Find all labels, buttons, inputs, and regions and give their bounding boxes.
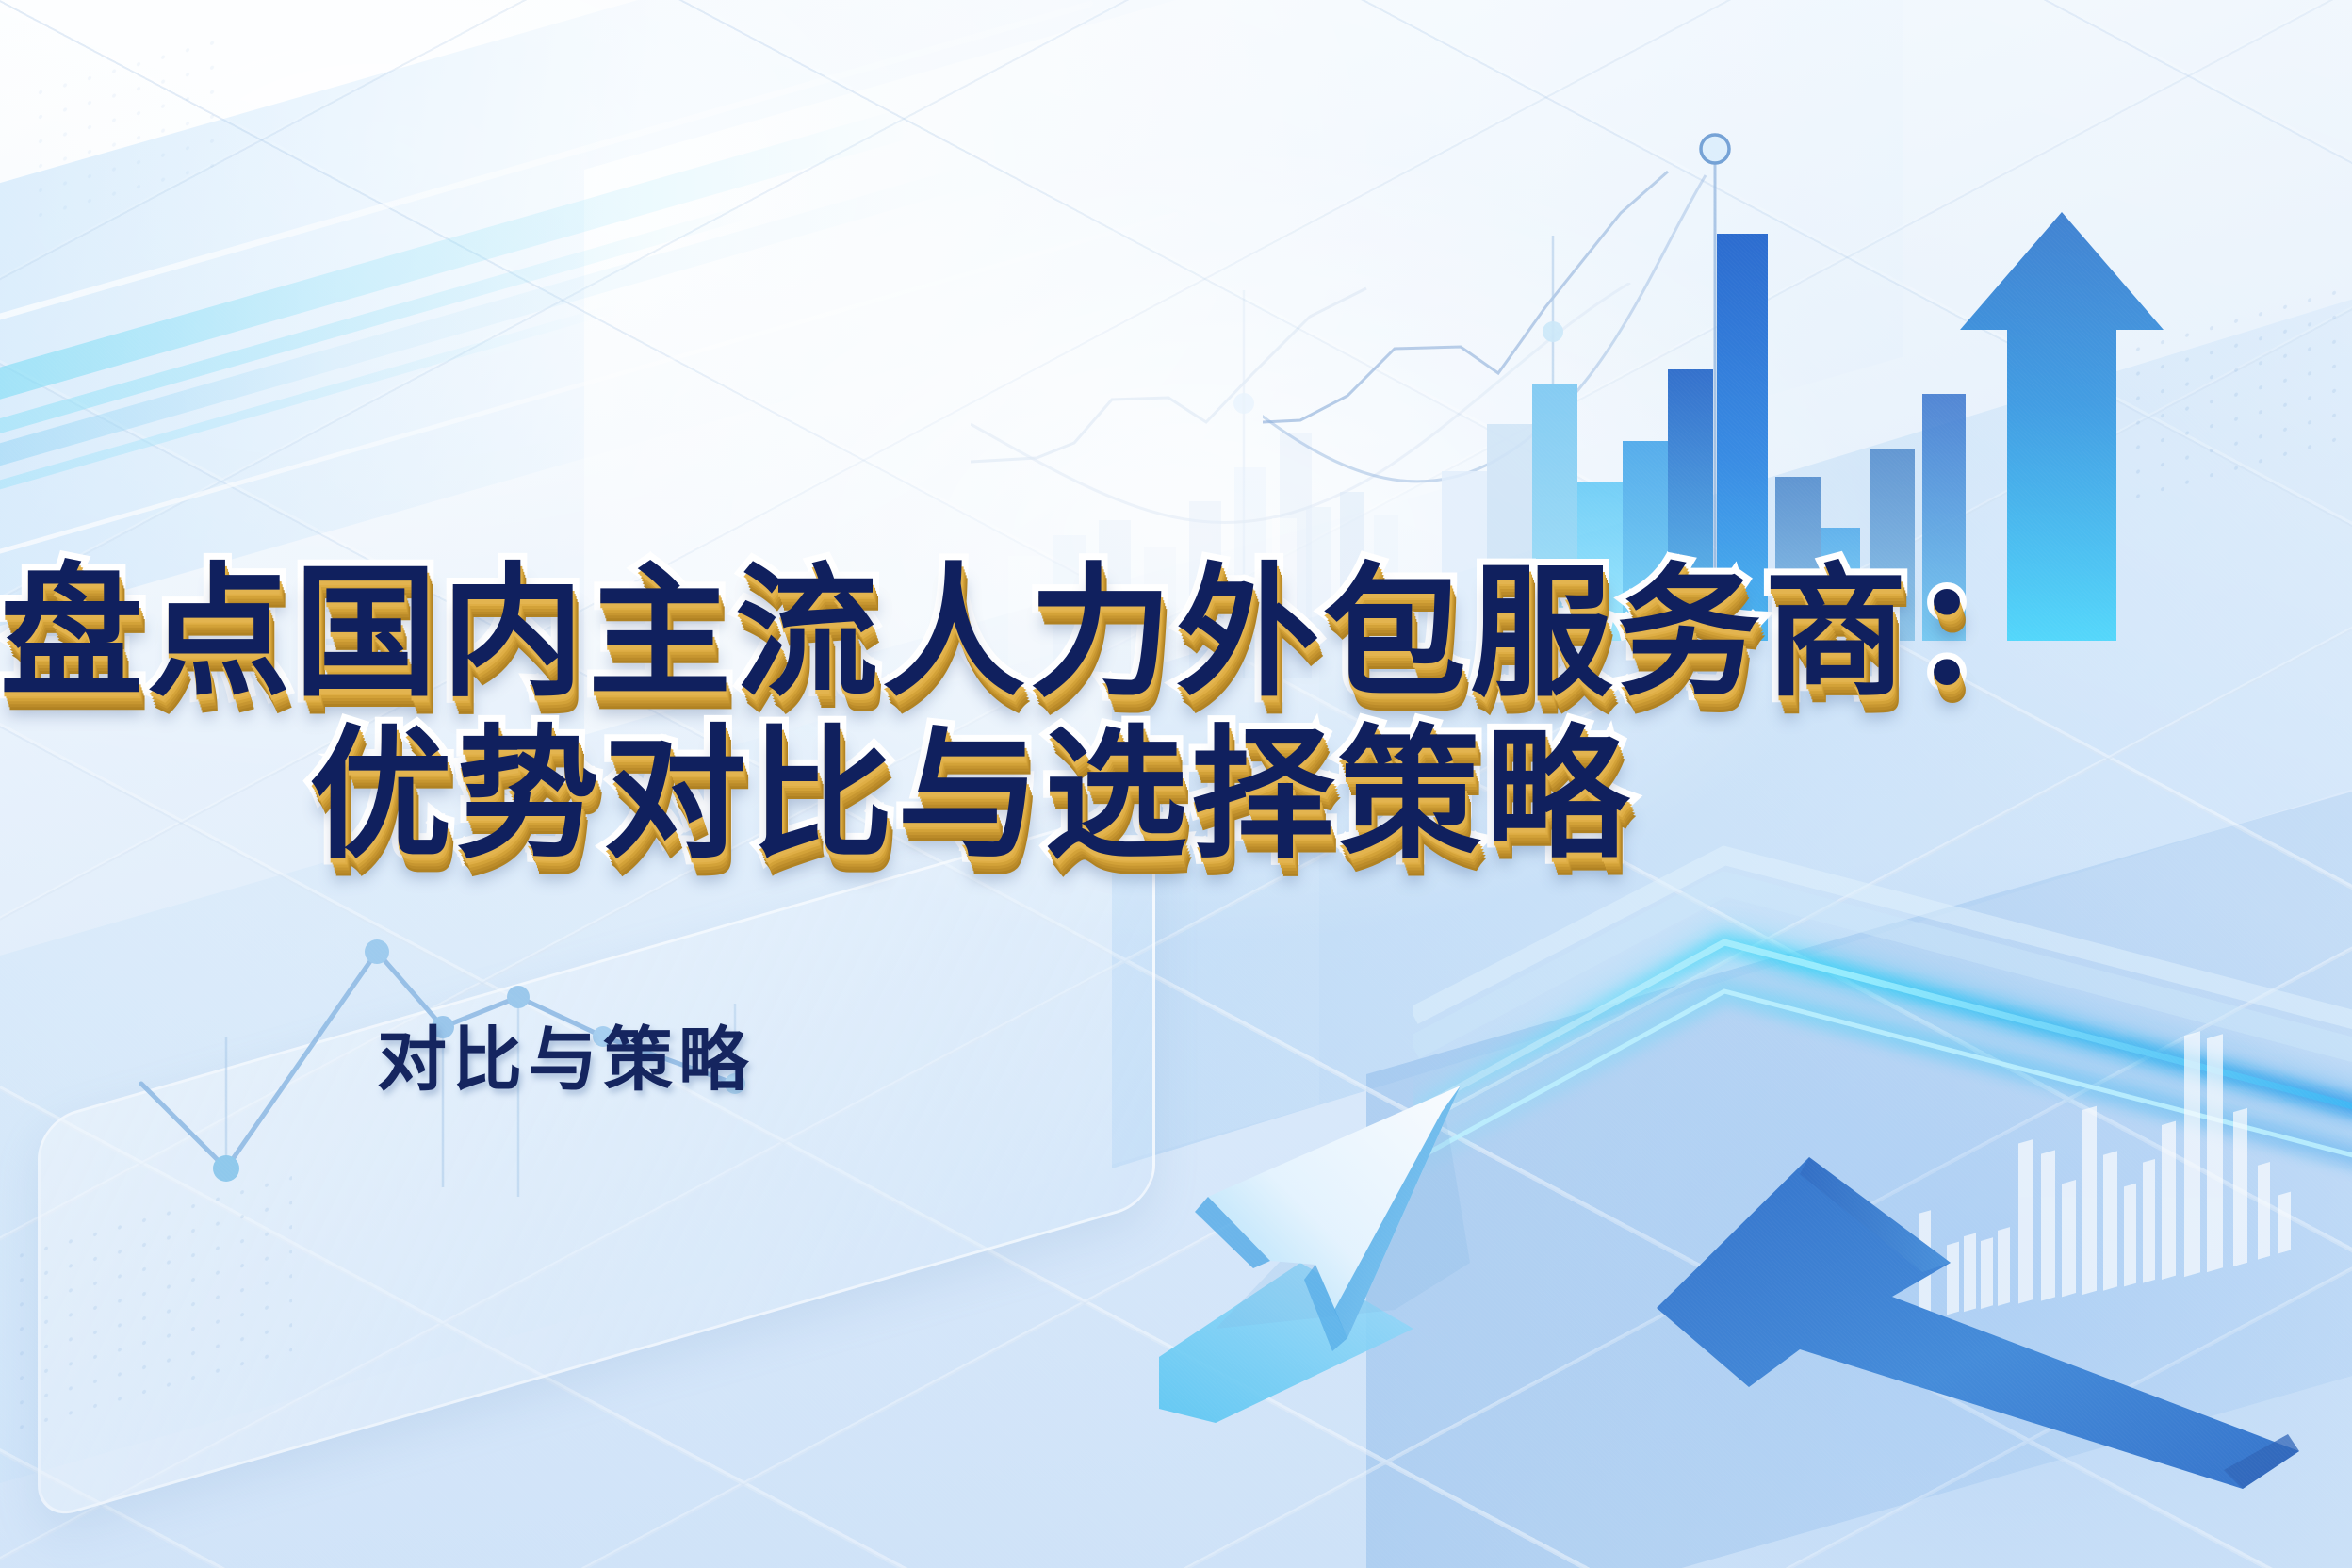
title-line-2: 优势对比与选择策略 bbox=[0, 714, 1941, 876]
cyan-glow-ridge bbox=[1413, 829, 2352, 1225]
background-glow-bottom-right bbox=[1413, 848, 2352, 1568]
poster-subtitle: 对比与策略 bbox=[377, 1004, 754, 1104]
background-white-streak-1 bbox=[0, 0, 1093, 412]
blue-arrow-icon bbox=[1640, 1131, 2352, 1489]
background-white-streak-2 bbox=[0, 211, 1178, 608]
halftone-dots-bottom-left bbox=[9, 1166, 292, 1435]
halftone-dots-top-left bbox=[28, 29, 217, 224]
white-arrow-icon bbox=[1159, 1027, 1856, 1423]
halftone-dots-top-right bbox=[2101, 274, 2352, 526]
title-line-1: 盘点国内主流人力外包服务商： bbox=[0, 552, 1941, 714]
background-cyan-streak-2 bbox=[0, 203, 754, 514]
background-cyan-streak-1 bbox=[0, 106, 914, 475]
left-glass-card bbox=[38, 801, 1155, 1523]
background-cyan-streak-4 bbox=[0, 304, 612, 579]
background-cyan-streak-3 bbox=[0, 165, 971, 552]
poster-title: 盘点国内主流人力外包服务商： 优势对比与选择策略 bbox=[0, 552, 1941, 876]
poster-canvas: 盘点国内主流人力外包服务商： 优势对比与选择策略 对比与策略 bbox=[0, 0, 2352, 1568]
right-small-bar-chart bbox=[1913, 1018, 2318, 1300]
